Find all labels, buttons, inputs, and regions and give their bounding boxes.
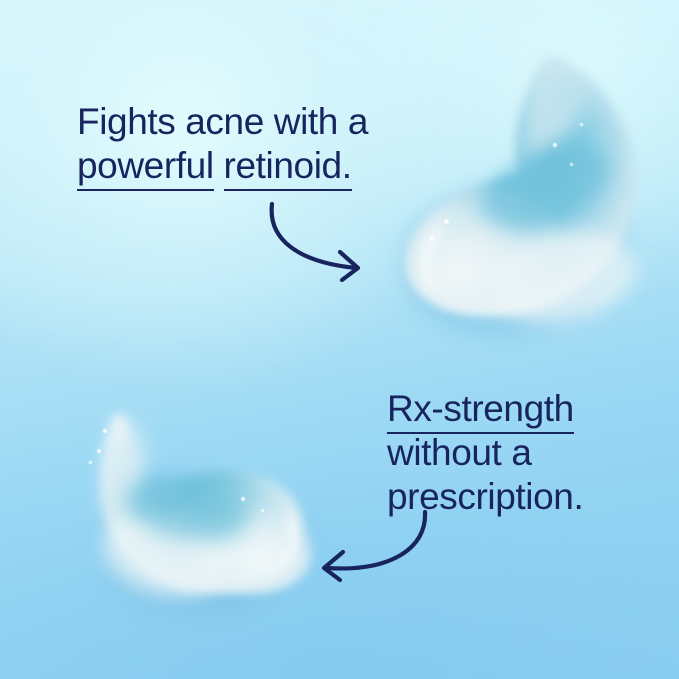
- gel-sparkle: [97, 449, 101, 453]
- marketing-image-canvas: Fights acne with a powerful retinoid. Rx…: [0, 0, 679, 679]
- rx-strength-headline: Rx-strength without a prescription.: [387, 387, 583, 519]
- gel-sparkle: [261, 509, 264, 512]
- gel-swatch-lower-left: [55, 405, 335, 625]
- headline-line: Fights acne with a: [77, 100, 368, 144]
- gel-sparkle: [444, 219, 449, 224]
- headline-line: powerful retinoid.: [77, 144, 368, 188]
- headline-segment-underlined: retinoid.: [224, 145, 352, 191]
- headline-segment: prescription.: [387, 476, 583, 517]
- headline-line: prescription.: [387, 475, 583, 519]
- gel-sparkle: [553, 143, 557, 147]
- gel-sparkle: [580, 123, 583, 126]
- fights-acne-headline: Fights acne with a powerful retinoid.: [77, 100, 368, 188]
- headline-segment-space: [214, 145, 224, 186]
- gel-swatch-lower-left-shape: [55, 405, 335, 625]
- gel-swatch-upper-right: [370, 35, 670, 330]
- headline-line: Rx-strength: [387, 387, 583, 431]
- headline-segment-underlined: Rx-strength: [387, 388, 574, 434]
- gel-swatch-upper-right-shape: [370, 35, 670, 330]
- headline-segment-underlined: powerful: [77, 145, 214, 191]
- gel-sparkle: [103, 429, 107, 433]
- gel-sparkle: [241, 497, 245, 501]
- headline-segment: without a: [387, 432, 532, 473]
- headline-segment: Fights acne with a: [77, 101, 368, 142]
- gel-sparkle: [430, 236, 434, 240]
- gel-sparkle: [89, 461, 92, 464]
- gel-sparkle: [570, 163, 573, 166]
- headline-line: without a: [387, 431, 583, 475]
